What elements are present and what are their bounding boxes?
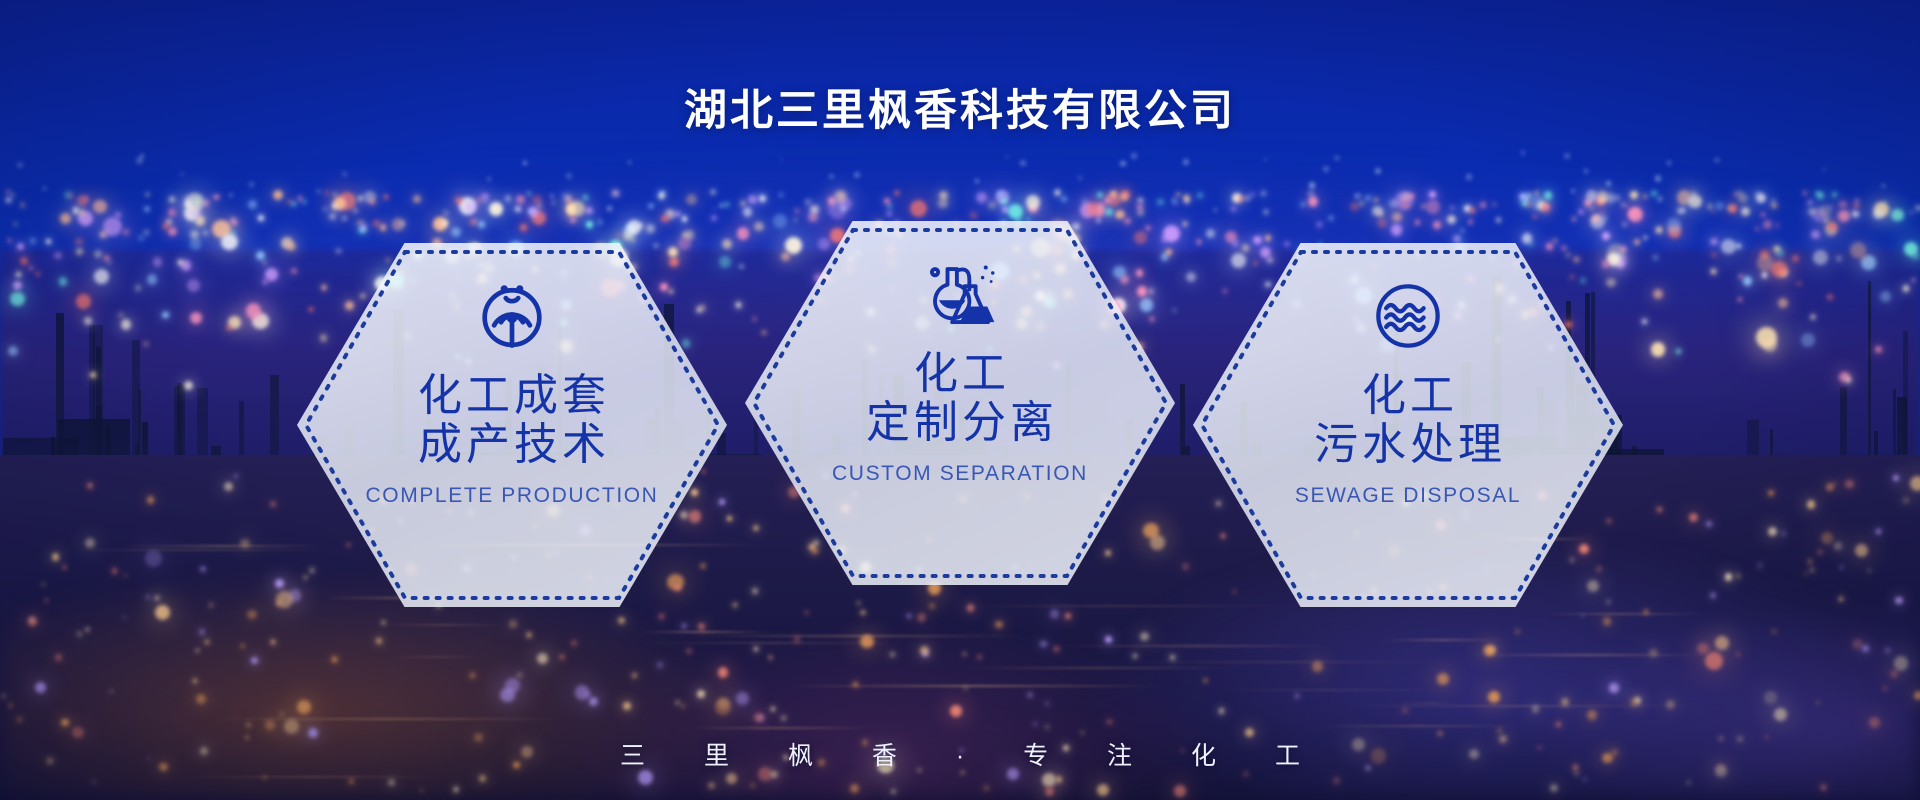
service-card-title: 化工成套 成产技术: [414, 371, 610, 470]
page-title: 湖北三里枫香科技有限公司: [0, 76, 1920, 138]
broadcast-signal-icon: [473, 277, 551, 355]
service-card-title: 化工 污水处理: [1310, 371, 1506, 470]
service-card-subtitle: CUSTOM SEPARATION: [832, 462, 1088, 486]
service-card-title-line1: 化工: [914, 349, 1010, 398]
service-card-custom-separation[interactable]: 化工 定制分离 CUSTOM SEPARATION: [745, 221, 1175, 585]
service-card-subtitle: COMPLETE PRODUCTION: [366, 484, 659, 508]
service-card-title-line1: 化工: [1362, 371, 1458, 420]
service-card-title-line1: 化工成套: [418, 371, 610, 420]
service-card-title-line2: 定制分离: [862, 398, 1058, 447]
service-card-title-line2: 成产技术: [414, 420, 610, 469]
lab-flask-icon: [921, 255, 999, 333]
banner-foreground: 湖北三里枫香科技有限公司: [0, 0, 1920, 800]
service-card-complete-production[interactable]: 化工成套 成产技术 COMPLETE PRODUCTION: [297, 243, 727, 607]
footer-tagline: 三 里 枫 香 · 专 注 化 工: [0, 736, 1920, 772]
service-card-sewage-disposal[interactable]: 化工 污水处理 SEWAGE DISPOSAL: [1193, 243, 1623, 607]
service-card-row: 化工成套 成产技术 COMPLETE PRODUCTION: [0, 243, 1920, 607]
service-card-subtitle: SEWAGE DISPOSAL: [1295, 484, 1521, 508]
service-card-title-line2: 污水处理: [1310, 420, 1506, 469]
water-waves-icon: [1369, 277, 1447, 355]
service-card-title: 化工 定制分离: [862, 349, 1058, 448]
